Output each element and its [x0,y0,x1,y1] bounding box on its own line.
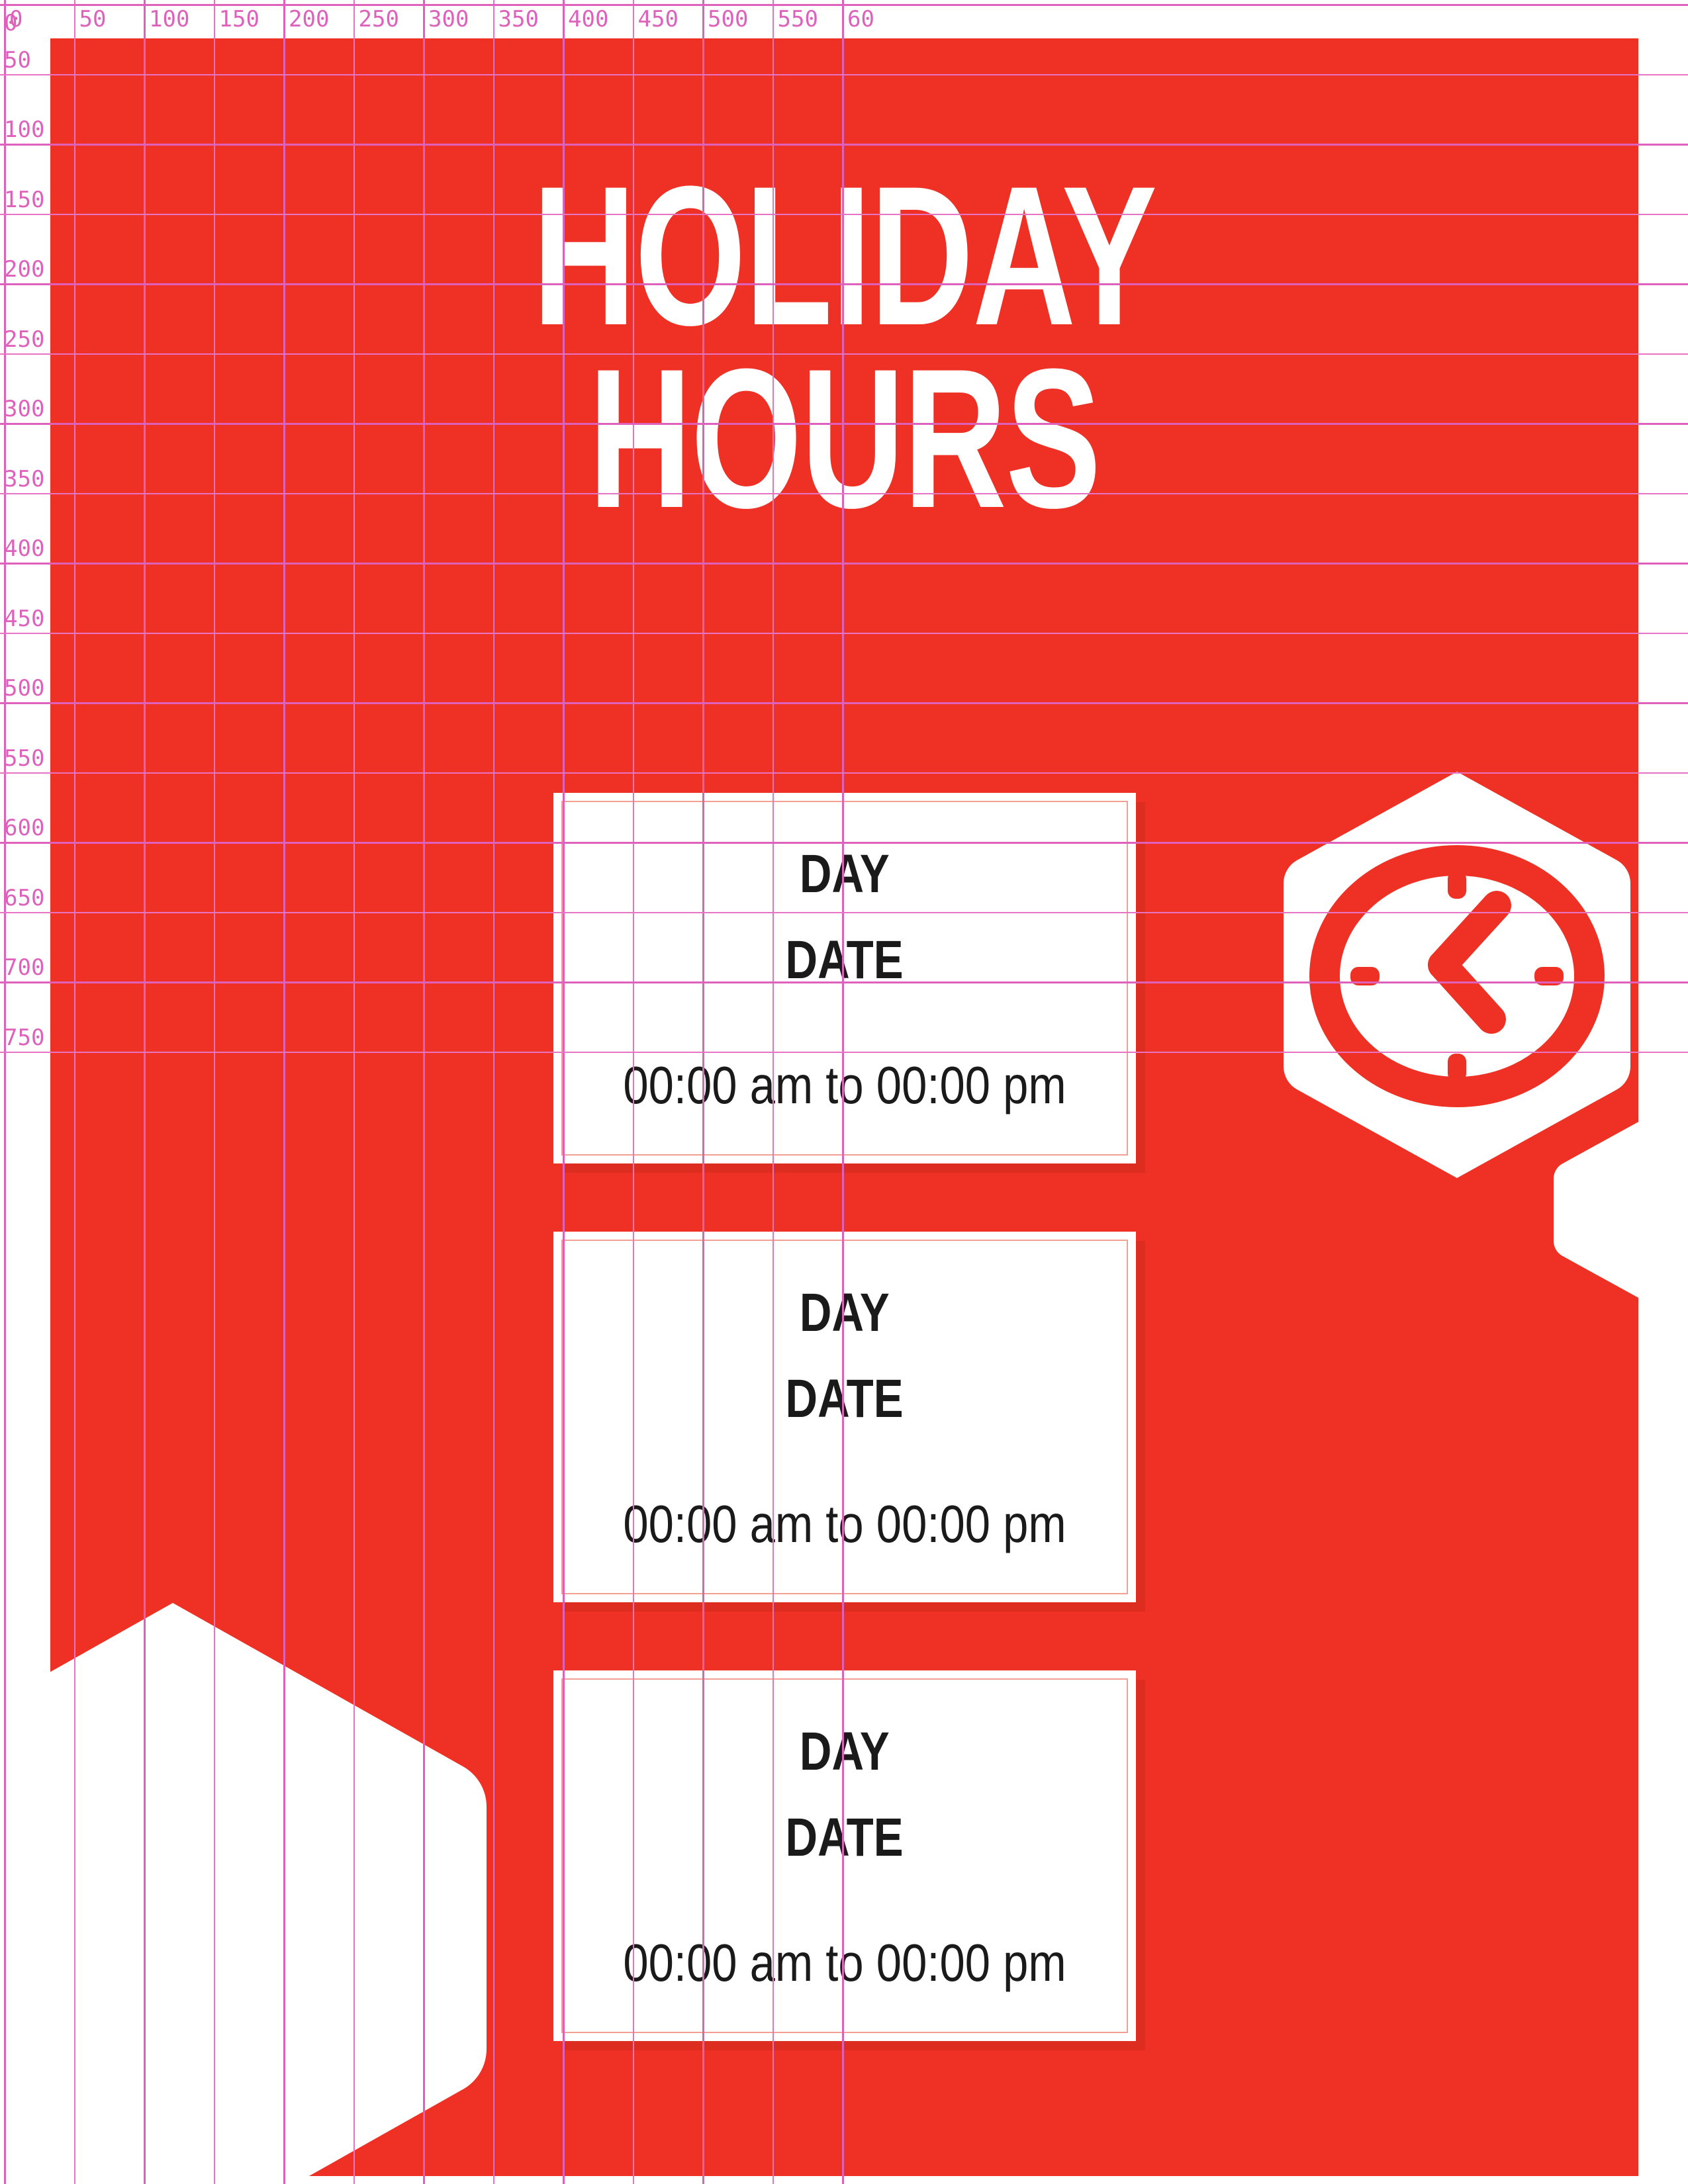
page-title: HOLIDAY HOURS [273,164,1416,529]
grid-label-x: 0 [9,8,23,30]
card-time-range: 00:00 am to 00:00 pm [594,1936,1096,1989]
grid-label-x: 350 [498,8,539,30]
grid-label-y: 300 [4,398,44,420]
grid-label-x: 100 [149,8,189,30]
hours-card[interactable]: DAY DATE 00:00 am to 00:00 pm [553,1670,1136,2041]
grid-label-x: 550 [778,8,818,30]
grid-label-x: 300 [428,8,469,30]
card-day-label: DAY [800,847,890,901]
grid-line-horizontal [0,4,1688,6]
grid-line-vertical [4,0,6,2184]
small-hexagon-decoration [1550,1114,1638,1306]
grid-label-x: 50 [79,8,107,30]
corner-hexagon-decoration [50,1594,507,2176]
grid-label-y: 750 [4,1026,44,1049]
grid-label-x: 250 [359,8,399,30]
title-line-1: HOLIDAY [273,164,1416,347]
hours-card[interactable]: DAY DATE 00:00 am to 00:00 pm [553,1232,1136,1602]
grid-label-y: 450 [4,608,44,630]
poster-canvas: HOLIDAY HOURS [0,0,1688,2184]
card-time-range: 00:00 am to 00:00 pm [594,1059,1096,1112]
card-day-label: DAY [800,1725,890,1779]
clock-icon [1325,860,1589,1092]
grid-label-y: 350 [4,468,44,490]
card-date-label: DATE [786,933,904,987]
card-time-range: 00:00 am to 00:00 pm [594,1498,1096,1551]
grid-label-x: 200 [289,8,329,30]
grid-label-y: 200 [4,258,44,281]
card-date-label: DATE [786,1372,904,1426]
grid-label-y: 700 [4,956,44,979]
title-line-2: HOURS [273,347,1416,529]
grid-label-origin: 0 [4,12,17,34]
grid-label-x: 400 [568,8,608,30]
grid-label-y: 600 [4,817,44,839]
grid-label-x: 150 [219,8,259,30]
poster-panel: HOLIDAY HOURS [50,38,1638,2176]
grid-label-y: 150 [4,189,44,211]
grid-label-y: 550 [4,747,44,770]
card-date-label: DATE [786,1811,904,1865]
grid-label-y: 250 [4,328,44,351]
grid-label-x: 450 [638,8,679,30]
grid-label-y: 100 [4,118,44,141]
grid-label-y: 400 [4,537,44,560]
hours-card[interactable]: DAY DATE 00:00 am to 00:00 pm [553,793,1136,1163]
grid-label-y: 500 [4,677,44,700]
card-day-label: DAY [800,1286,890,1340]
grid-label-x: 500 [708,8,748,30]
grid-label-x: 60 [847,8,874,30]
grid-label-y: 50 [4,49,31,71]
hours-card-list: DAY DATE 00:00 am to 00:00 pm DAY DATE 0… [553,793,1136,2041]
grid-label-y: 650 [4,887,44,909]
